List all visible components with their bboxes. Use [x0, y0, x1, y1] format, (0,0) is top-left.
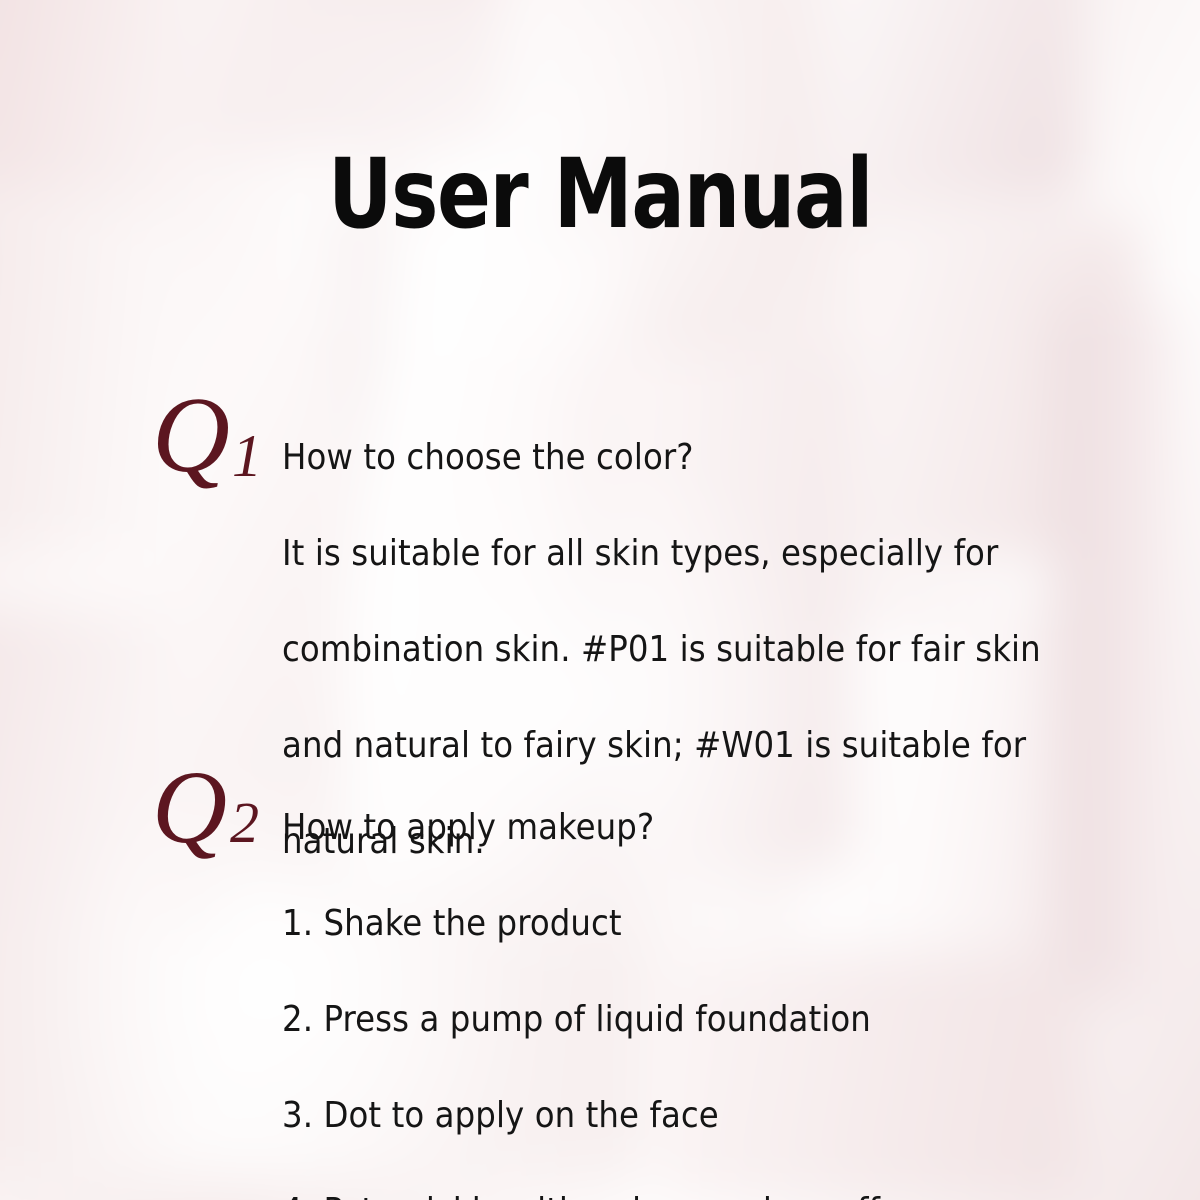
faq-marker-index: 2 — [230, 794, 259, 852]
faq-step-item: 1. Shake the product — [282, 900, 880, 948]
faq-question-1: How to choose the color? — [282, 434, 1041, 482]
faq-answer-line: combination skin. #P01 is suitable for f… — [282, 626, 1041, 674]
faq-question-2: How to apply makeup? — [282, 804, 880, 852]
faq-marker-letter: Q — [152, 756, 227, 860]
faq-marker-letter: Q — [152, 382, 230, 490]
faq-answer-line: It is suitable for all skin types, espec… — [282, 530, 1041, 578]
page-title: User Manual — [48, 146, 1152, 242]
faq-item-2: Q 2 How to apply makeup? 1. Shake the pr… — [150, 756, 880, 1200]
bottle-shape-right-edge — [1055, 300, 1175, 1000]
faq-step-item: 2. Press a pump of liquid foundation — [282, 996, 880, 1044]
user-manual-page: User Manual Q 1 How to choose the color?… — [0, 0, 1200, 1200]
faq-body-2: How to apply makeup? 1. Shake the produc… — [282, 756, 880, 1200]
faq-step-item: 4. Pat quickly with a dry powder puff — [282, 1188, 880, 1200]
faq-marker-index: 1 — [232, 426, 262, 486]
faq-step-item: 3. Dot to apply on the face — [282, 1092, 880, 1140]
